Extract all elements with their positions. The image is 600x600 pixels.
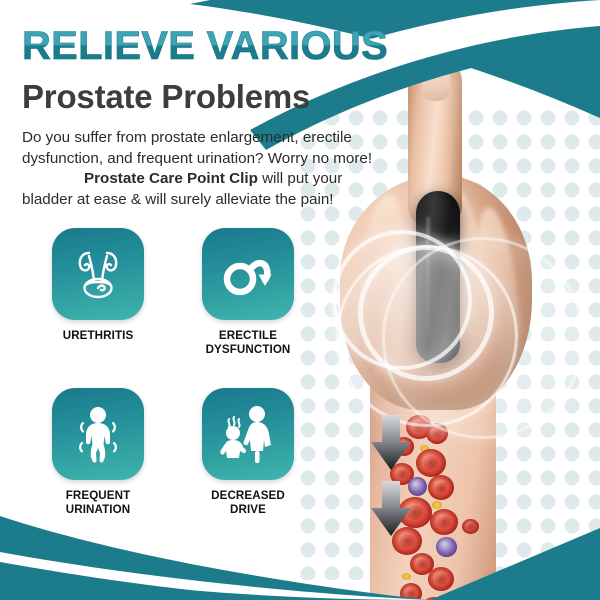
feature-label: FREQUENT URINATION bbox=[52, 489, 144, 516]
urinary-system-icon bbox=[67, 243, 129, 305]
feature-card-urethritis[interactable]: URETHRITIS bbox=[52, 228, 144, 343]
feature-label: URETHRITIS bbox=[52, 329, 144, 343]
page-title: RELIEVE VARIOUS bbox=[22, 26, 388, 66]
feature-label: DECREASED DRIVE bbox=[202, 489, 294, 516]
product-advertisement: RELIEVE VARIOUS Prostate Problems Do you… bbox=[0, 0, 600, 600]
text-column: RELIEVE VARIOUS Prostate Problems Do you… bbox=[0, 0, 400, 600]
feature-tile bbox=[52, 388, 144, 480]
body-copy-part1: Do you suffer from prostate enlargement,… bbox=[22, 129, 372, 167]
feature-tile bbox=[52, 228, 144, 320]
drooping-male-symbol-icon bbox=[217, 243, 279, 305]
product-name: Prostate Care Point Clip bbox=[84, 170, 258, 187]
feature-card-frequent-urination[interactable]: FREQUENT URINATION bbox=[52, 388, 144, 516]
person-holding-urine-icon bbox=[67, 403, 129, 465]
body-copy: Do you suffer from prostate enlargement,… bbox=[22, 128, 382, 211]
page-subtitle: Prostate Problems bbox=[22, 78, 310, 116]
fingernail bbox=[422, 65, 450, 101]
feature-card-erectile-dysfunction[interactable]: ERECTILE DYSFUNCTION bbox=[202, 228, 294, 356]
feature-tile bbox=[202, 228, 294, 320]
couple-decreased-drive-icon bbox=[217, 403, 279, 465]
feature-card-decreased-drive[interactable]: DECREASED DRIVE bbox=[202, 388, 294, 516]
feature-label: ERECTILE DYSFUNCTION bbox=[202, 329, 294, 356]
feature-tile bbox=[202, 388, 294, 480]
